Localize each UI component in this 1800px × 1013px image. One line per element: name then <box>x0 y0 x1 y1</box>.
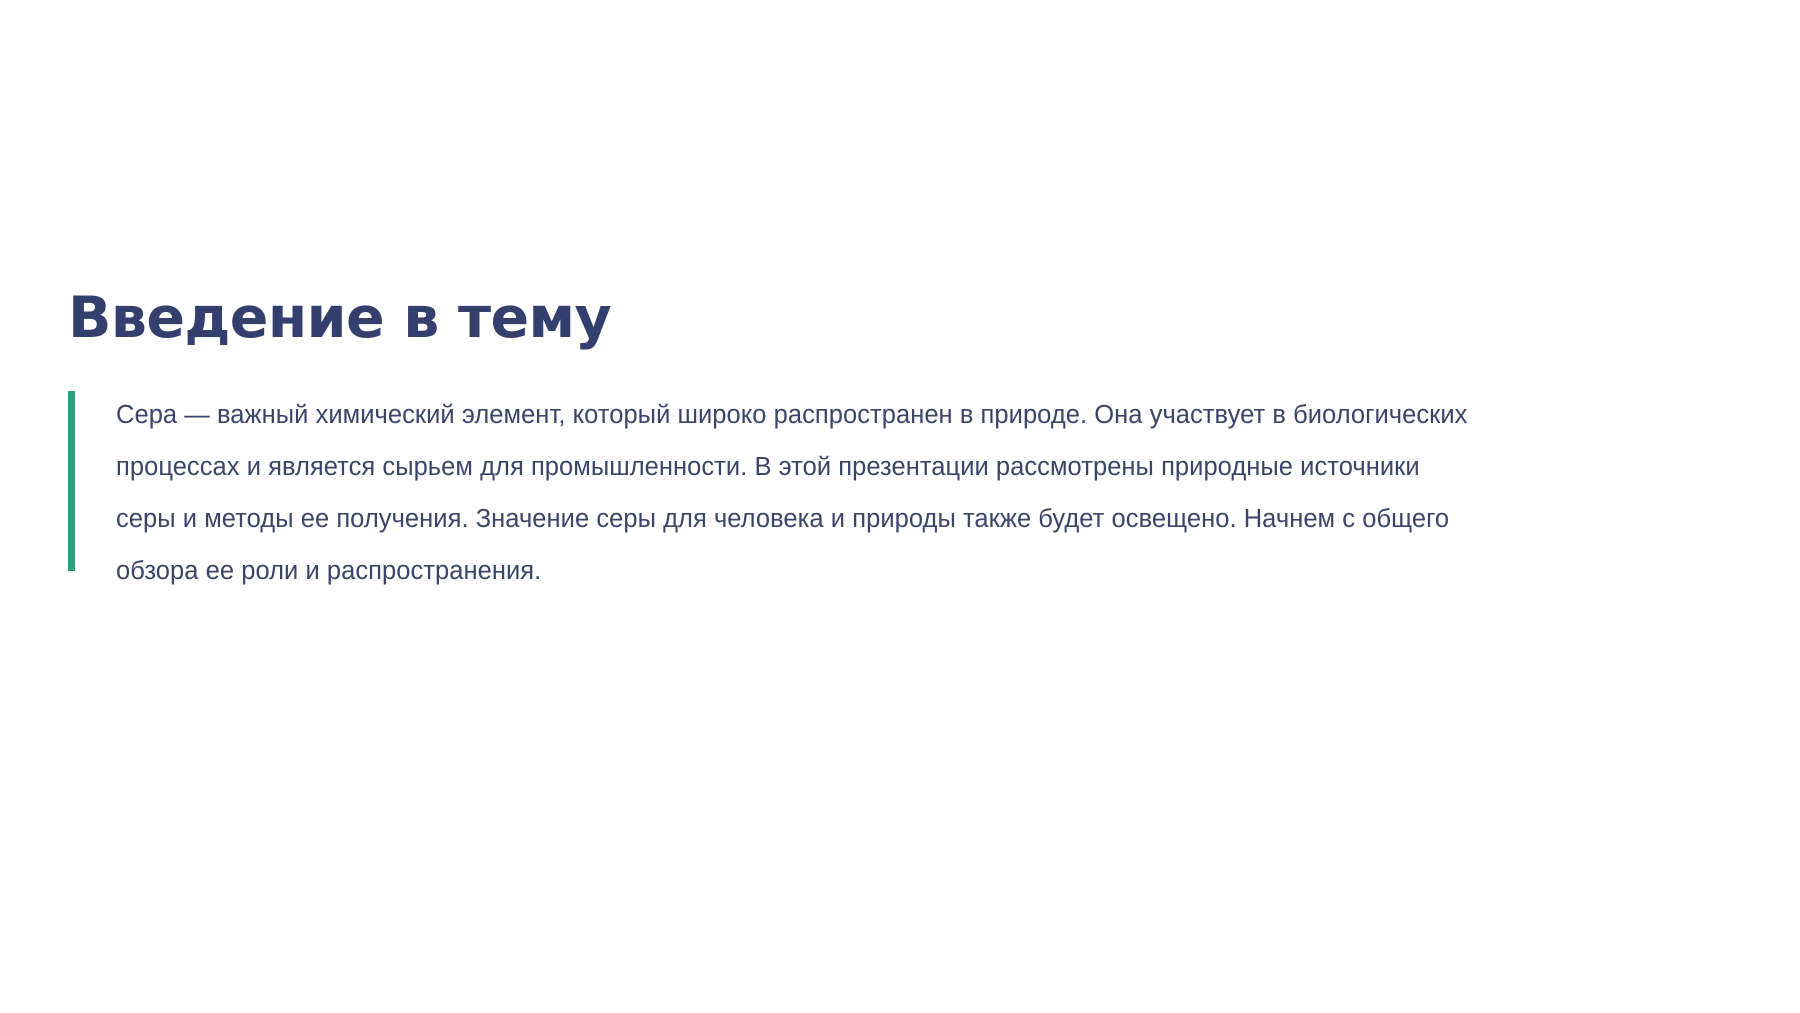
page-title: Введение в тему <box>68 288 1728 350</box>
slide-content-container: Введение в тему Сера — важный химический… <box>68 288 1728 597</box>
accent-bar <box>68 391 75 571</box>
body-text-block: Сера — важный химический элемент, которы… <box>68 389 1728 597</box>
presentation-slide: Введение в тему Сера — важный химический… <box>0 0 1800 1013</box>
body-paragraph: Сера — важный химический элемент, которы… <box>116 389 1476 597</box>
